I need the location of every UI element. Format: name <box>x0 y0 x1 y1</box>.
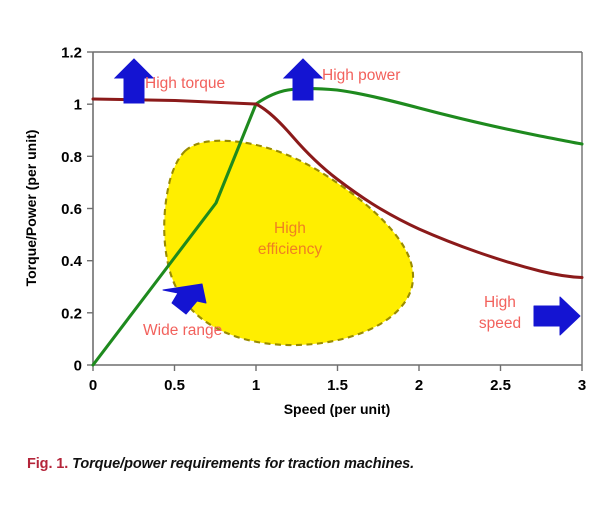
figure-container: 0 0.2 0.4 0.6 0.8 1 1.2 0 0.5 1 1.5 2 <box>0 0 600 506</box>
high-speed-label-line1: High <box>484 294 516 311</box>
high-efficiency-label-line1: High <box>274 220 306 237</box>
x-tick-label-2: 1 <box>252 377 260 394</box>
high-power-label: High power <box>322 67 400 84</box>
y-tick-label-1: 0.2 <box>61 305 82 322</box>
x-tick-label-5: 2.5 <box>490 377 511 394</box>
x-tick-label-3: 1.5 <box>327 377 348 394</box>
figure-caption-bar: Fig. 1. Torque/power requirements for tr… <box>0 440 600 506</box>
x-tick-label-6: 3 <box>578 377 586 394</box>
torque-power-chart: 0 0.2 0.4 0.6 0.8 1 1.2 0 0.5 1 1.5 2 <box>0 0 600 440</box>
figure-caption-body: Torque/power requirements for traction m… <box>72 456 414 472</box>
high-torque-label: High torque <box>145 75 225 92</box>
y-tick-label-4: 0.8 <box>61 149 82 166</box>
x-tick-label-0: 0 <box>89 377 97 394</box>
x-axis-ticks <box>93 365 582 371</box>
y-tick-label-3: 0.6 <box>61 201 82 218</box>
figure-caption-prefix: Fig. 1. <box>27 456 68 472</box>
wide-range-label: Wide range <box>143 322 222 339</box>
y-axis-title: Torque/Power (per unit) <box>23 130 39 287</box>
x-axis-title: Speed (per unit) <box>284 401 391 417</box>
y-tick-label-5: 1 <box>74 97 82 114</box>
high-speed-label-line2: speed <box>479 315 521 332</box>
y-tick-label-6: 1.2 <box>61 45 82 62</box>
x-tick-label-4: 2 <box>415 377 423 394</box>
chart-area: 0 0.2 0.4 0.6 0.8 1 1.2 0 0.5 1 1.5 2 <box>0 0 600 440</box>
y-tick-label-2: 0.4 <box>61 253 83 270</box>
y-tick-label-0: 0 <box>74 358 82 375</box>
high-efficiency-label-line2: efficiency <box>258 241 323 258</box>
x-tick-label-1: 0.5 <box>164 377 185 394</box>
figure-caption: Fig. 1. Torque/power requirements for tr… <box>27 456 414 472</box>
